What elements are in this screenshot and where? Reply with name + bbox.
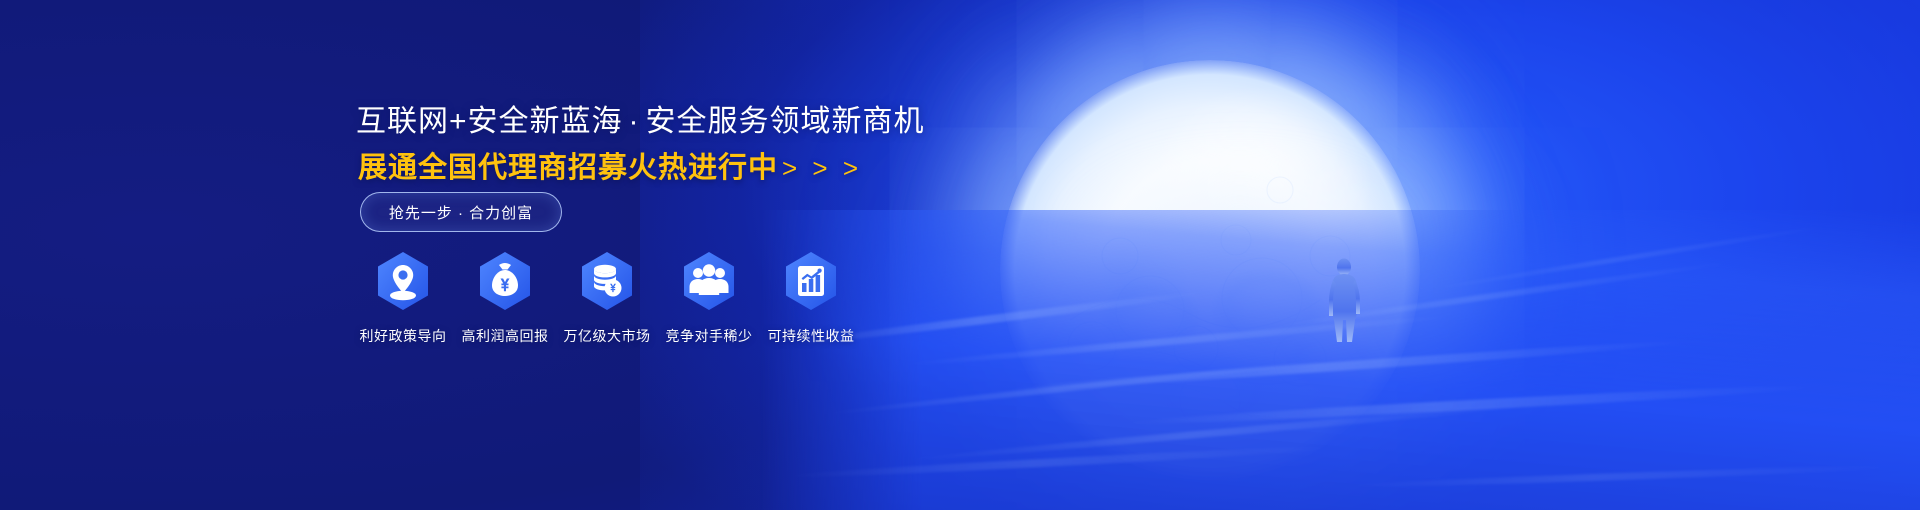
coin-stack-icon	[579, 250, 635, 312]
headline-separator: ·	[623, 105, 646, 139]
feature-item[interactable]: 竞争对手稀少	[658, 250, 760, 346]
feature-item[interactable]: 可持续性收益	[760, 250, 862, 346]
bar-chart-growth-icon	[783, 250, 839, 312]
promo-banner: 互联网+安全新蓝海·安全服务领域新商机 展通全国代理商招募火热进行中> > > …	[0, 0, 1920, 510]
subheadline-text: 展通全国代理商招募火热进行中	[358, 152, 778, 184]
feature-item[interactable]: 高利润高回报	[454, 250, 556, 346]
feature-item[interactable]: 利好政策导向	[352, 250, 454, 346]
headline-part-2: 安全服务领域新商机	[646, 105, 925, 138]
people-group-icon	[681, 250, 737, 312]
chevron-right-icons: > > >	[778, 153, 862, 183]
feature-label: 可持续性收益	[768, 326, 855, 346]
banner-content: 互联网+安全新蓝海·安全服务领域新商机 展通全国代理商招募火热进行中> > > …	[0, 0, 1100, 510]
feature-label: 高利润高回报	[462, 326, 549, 346]
subheadline: 展通全国代理商招募火热进行中> > >	[358, 144, 862, 186]
feature-label: 万亿级大市场	[564, 326, 651, 346]
feature-list: 利好政策导向	[352, 250, 862, 346]
feature-label: 利好政策导向	[360, 326, 447, 346]
page-title: 互联网+安全新蓝海·安全服务领域新商机	[356, 96, 925, 140]
location-pin-icon	[375, 250, 431, 312]
cta-pill-button[interactable]: 抢先一步 · 合力创富	[360, 192, 562, 232]
feature-label: 竞争对手稀少	[666, 326, 753, 346]
walking-person-silhouette	[1322, 258, 1368, 346]
money-bag-icon	[477, 250, 533, 312]
cta-pill-label: 抢先一步 · 合力创富	[389, 202, 533, 223]
feature-item[interactable]: 万亿级大市场	[556, 250, 658, 346]
headline-part-1: 互联网+安全新蓝海	[356, 105, 623, 138]
